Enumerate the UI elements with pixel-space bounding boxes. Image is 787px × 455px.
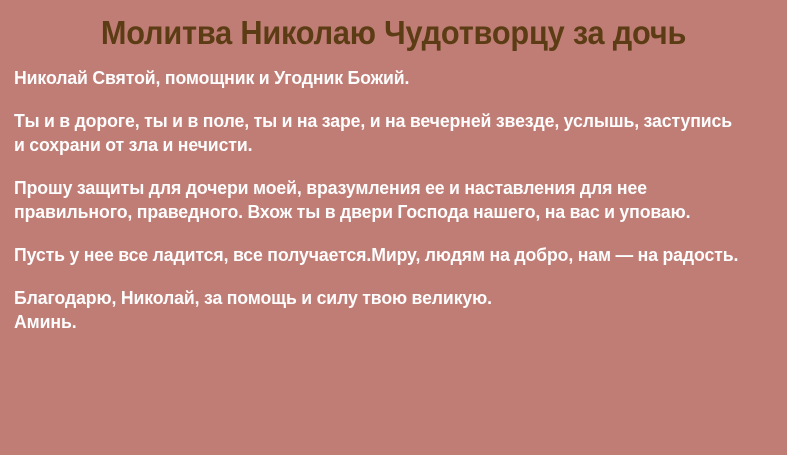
prayer-text-body: Николай Святой, помощник и Угодник Божий… — [0, 52, 787, 334]
prayer-paragraph-5: Благодарю, Николай, за помощь и силу тво… — [14, 286, 739, 334]
page-title: Молитва Николаю Чудотворцу за дочь — [28, 0, 760, 52]
prayer-paragraph-1: Николай Святой, помощник и Угодник Божий… — [14, 66, 739, 90]
prayer-paragraph-4: Пусть у нее все ладится, все получается.… — [14, 243, 739, 267]
prayer-paragraph-3: Прошу защиты для дочери моей, вразумлени… — [14, 176, 739, 224]
prayer-card: Молитва Николаю Чудотворцу за дочь Никол… — [0, 0, 787, 455]
prayer-paragraph-2: Ты и в дороге, ты и в поле, ты и на заре… — [14, 109, 739, 157]
